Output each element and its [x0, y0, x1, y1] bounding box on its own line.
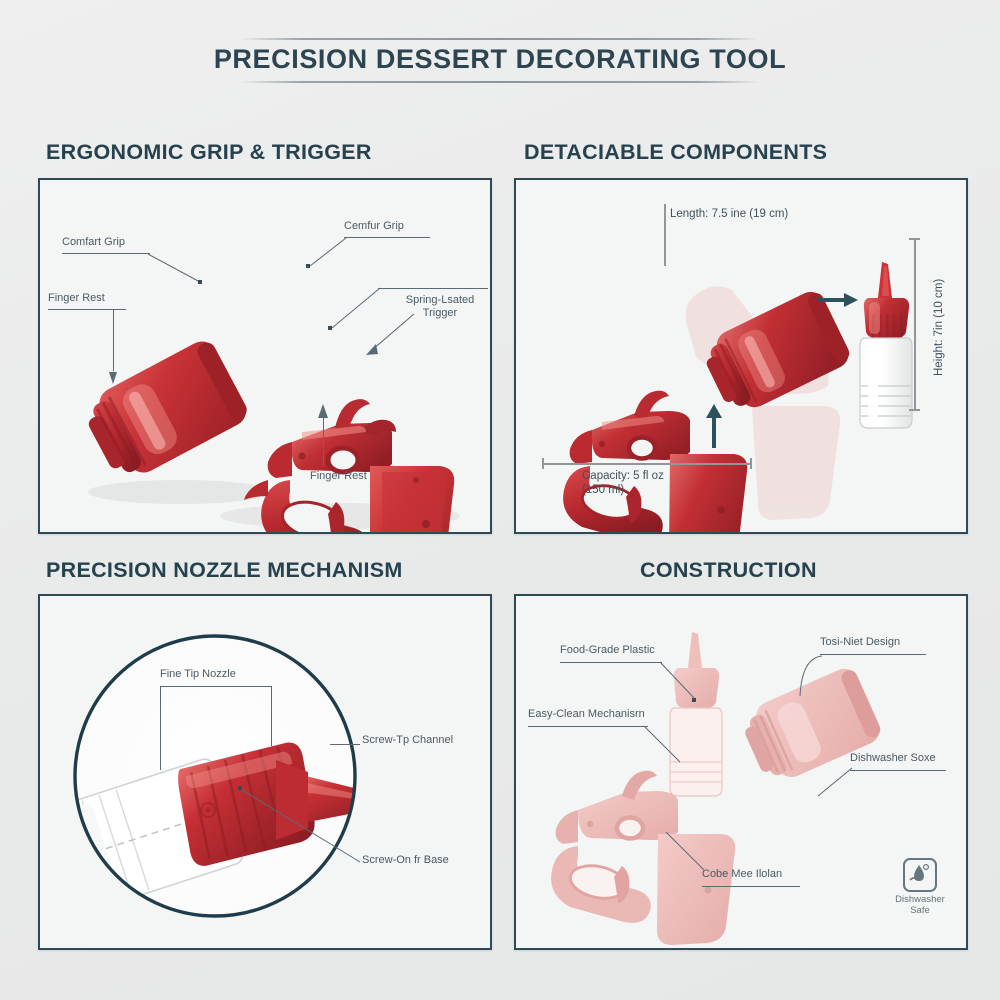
leader-screw-on-base	[236, 784, 366, 870]
leader-cobe-mee-diag	[662, 828, 710, 876]
label-dishwasher-score: Dishwasher Soxe	[850, 752, 936, 765]
tick-height-bottom	[909, 409, 920, 411]
leader-food-grade-plastic-diag	[658, 656, 700, 704]
leader-finger-rest-left	[48, 309, 126, 310]
arrow-finger-rest-bottom	[312, 402, 338, 424]
anchor-screw-on-base	[238, 786, 242, 790]
dishwasher-safe-badge-box	[903, 858, 937, 892]
label-finger-rest-bottom: Finger Rest	[310, 470, 367, 483]
page-title: PRECISION DESSERT DECORATING TOOL	[0, 40, 1000, 77]
panel-construction: Food-Grade Plastic Easy-Clean Mechanisrn…	[514, 594, 968, 950]
leader-cobe-mee-h	[702, 886, 800, 887]
leader-dishwasher-score-h	[850, 770, 946, 771]
label-fine-tip-nozzle: Fine Tip Nozzle	[160, 668, 236, 681]
leader-food-grade-plastic-h	[560, 662, 662, 663]
leader-finger-rest-left-v	[113, 309, 114, 371]
panel-heading-detachable: DETACIABLE COMPONENTS	[524, 140, 827, 165]
leader-spring-trigger-top	[378, 288, 488, 289]
leader-fine-tip-nozzle-h	[160, 686, 272, 687]
anchor-spring-trigger	[328, 326, 332, 330]
title-rule-bottom	[240, 81, 760, 83]
label-twist-vent-design: Tosi-Niet Design	[820, 636, 900, 649]
label-comfort-grip-left: Comfart Grip	[62, 236, 125, 249]
label-screw-top-channel: Screw-Tp Channel	[362, 734, 453, 747]
anchor-comfort-grip-left	[198, 280, 202, 284]
dishwasher-safe-line2: Safe	[888, 906, 952, 917]
assembly-arrow-up	[706, 404, 722, 448]
water-droplet-icon	[906, 861, 932, 887]
arrow-finger-rest-left	[102, 366, 132, 390]
leader-comfort-grip-right-diag	[304, 236, 352, 272]
title-block: PRECISION DESSERT DECORATING TOOL	[0, 38, 1000, 83]
panel-detachable-components: Length: 7.5 ine (19 cm) Height: 7in (10 …	[514, 178, 968, 534]
anchor-food-grade-plastic	[692, 698, 696, 702]
label-height-dimension: Height: 7in (10 cm)	[933, 279, 945, 376]
label-screw-on-base: Screw-On fr Base	[362, 854, 449, 867]
leader-dishwasher-score-diag	[812, 764, 858, 804]
panel-precision-nozzle-mechanism: Fine Tip Nozzle Screw-Tp Channel Screw-O…	[38, 594, 492, 950]
leader-comfort-grip-left	[62, 253, 150, 254]
label-finger-rest-left: Finger Rest	[48, 292, 105, 305]
ergonomic-illustration	[40, 180, 490, 532]
leader-fine-tip-nozzle-v2	[271, 686, 272, 746]
leader-twist-vent-h	[820, 654, 926, 655]
panel-ergonomic-grip-trigger: Comfart Grip Finger Rest Cemfur Grip Spr…	[38, 178, 492, 534]
infographic-page: PRECISION DESSERT DECORATING TOOL ERGONO…	[0, 0, 1000, 1000]
leader-twist-vent-diag	[796, 652, 830, 700]
tick-capacity-right	[750, 458, 752, 469]
tick-capacity-left	[542, 458, 544, 469]
label-length-dimension: Length: 7.5 ine (19 cm)	[670, 208, 788, 222]
leader-screw-top-channel	[330, 744, 360, 745]
leader-easy-clean-diag	[642, 720, 686, 768]
label-comfort-grip-right: Cemfur Grip	[344, 220, 404, 233]
dimline-capacity	[542, 463, 752, 465]
label-cobe-mee-ilolan: Cobe Mee Ilolan	[702, 868, 782, 881]
nozzle-illustration	[40, 596, 490, 948]
label-capacity-dimension: Capacity: 5 fl oz (150 ml)	[582, 470, 716, 498]
label-food-grade-plastic: Food-Grade Plastic	[560, 644, 655, 657]
leader-easy-clean-h	[528, 726, 648, 727]
panel-heading-ergonomic: ERGONOMIC GRIP & TRIGGER	[46, 140, 372, 165]
label-easy-clean-mechanism: Easy-Clean Mechanisrn	[528, 708, 645, 721]
anchor-comfort-grip-right	[306, 264, 310, 268]
arrow-spring-trigger	[358, 308, 418, 358]
dimline-length	[664, 204, 666, 266]
dimline-height	[914, 238, 916, 410]
leader-fine-tip-nozzle-v1	[160, 686, 161, 770]
leader-comfort-grip-right	[344, 237, 430, 238]
panel-heading-construction: CONSTRUCTION	[640, 558, 817, 583]
panel-heading-nozzle: PRECISION NOZZLE MECHANISM	[46, 558, 403, 583]
dishwasher-safe-badge: Dishwasher Safe	[888, 858, 952, 917]
tick-height-top	[909, 238, 920, 240]
